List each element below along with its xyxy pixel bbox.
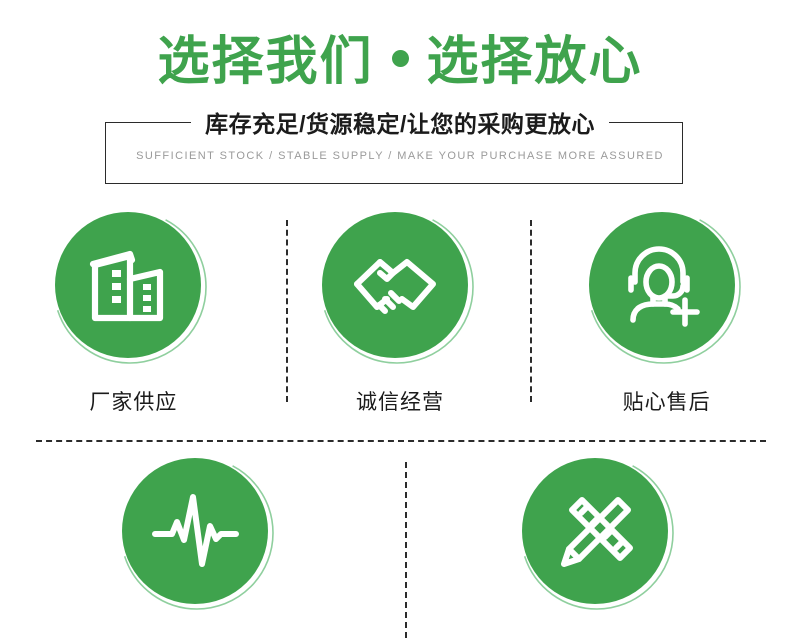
headset-support-person-icon — [615, 238, 709, 332]
title-bullet-dot — [392, 50, 409, 67]
feature-label: 贴心售后 — [623, 386, 711, 416]
page-title-right: 选择放心 — [427, 31, 643, 93]
heartbeat-pulse-icon — [146, 482, 244, 580]
page-title-left: 选择我们 — [157, 31, 373, 93]
vertical-divider-2 — [530, 220, 532, 402]
feature-item-factory[interactable]: 厂家供应 — [0, 206, 267, 434]
feature-item-aftersales[interactable]: 贴心售后 — [533, 206, 800, 434]
feature-item-custom-design[interactable] — [400, 452, 800, 638]
feature-icon-circle — [522, 458, 668, 604]
feature-icon-wrap — [322, 212, 478, 368]
feature-icon-wrap — [122, 458, 278, 614]
subtitle-chinese-text: 库存充足/货源稳定/让您的采购更放心 — [191, 110, 609, 138]
feature-icon-circle — [589, 212, 735, 358]
feature-icon-wrap — [55, 212, 211, 368]
horizontal-divider — [36, 440, 766, 442]
features-row-top: 厂家供应 诚信经营 — [0, 206, 800, 434]
feature-icon-wrap — [589, 212, 745, 368]
factory-building-icon — [82, 239, 174, 331]
feature-item-integrity[interactable]: 诚信经营 — [267, 206, 534, 434]
features-row-bottom — [0, 452, 800, 638]
feature-icon-circle — [122, 458, 268, 604]
page-title: 选择我们选择放心 — [0, 28, 800, 93]
vertical-divider-1 — [286, 220, 288, 402]
subtitle-chinese: 库存充足/货源稳定/让您的采购更放心 — [0, 110, 800, 138]
feature-icon-circle — [55, 212, 201, 358]
feature-icon-wrap — [522, 458, 678, 614]
subtitle-english: SUFFICIENT STOCK / STABLE SUPPLY / MAKE … — [0, 150, 800, 162]
header-banner: 选择我们选择放心 库存充足/货源稳定/让您的采购更放心 SUFFICIENT S… — [0, 0, 800, 196]
feature-item-quality-monitoring[interactable] — [0, 452, 400, 638]
vertical-divider-3 — [405, 462, 407, 638]
feature-label: 诚信经营 — [356, 386, 444, 416]
pen-and-ruler-icon — [548, 484, 642, 578]
handshake-icon — [347, 237, 443, 333]
feature-icon-circle — [322, 212, 468, 358]
feature-label: 厂家供应 — [89, 386, 177, 416]
